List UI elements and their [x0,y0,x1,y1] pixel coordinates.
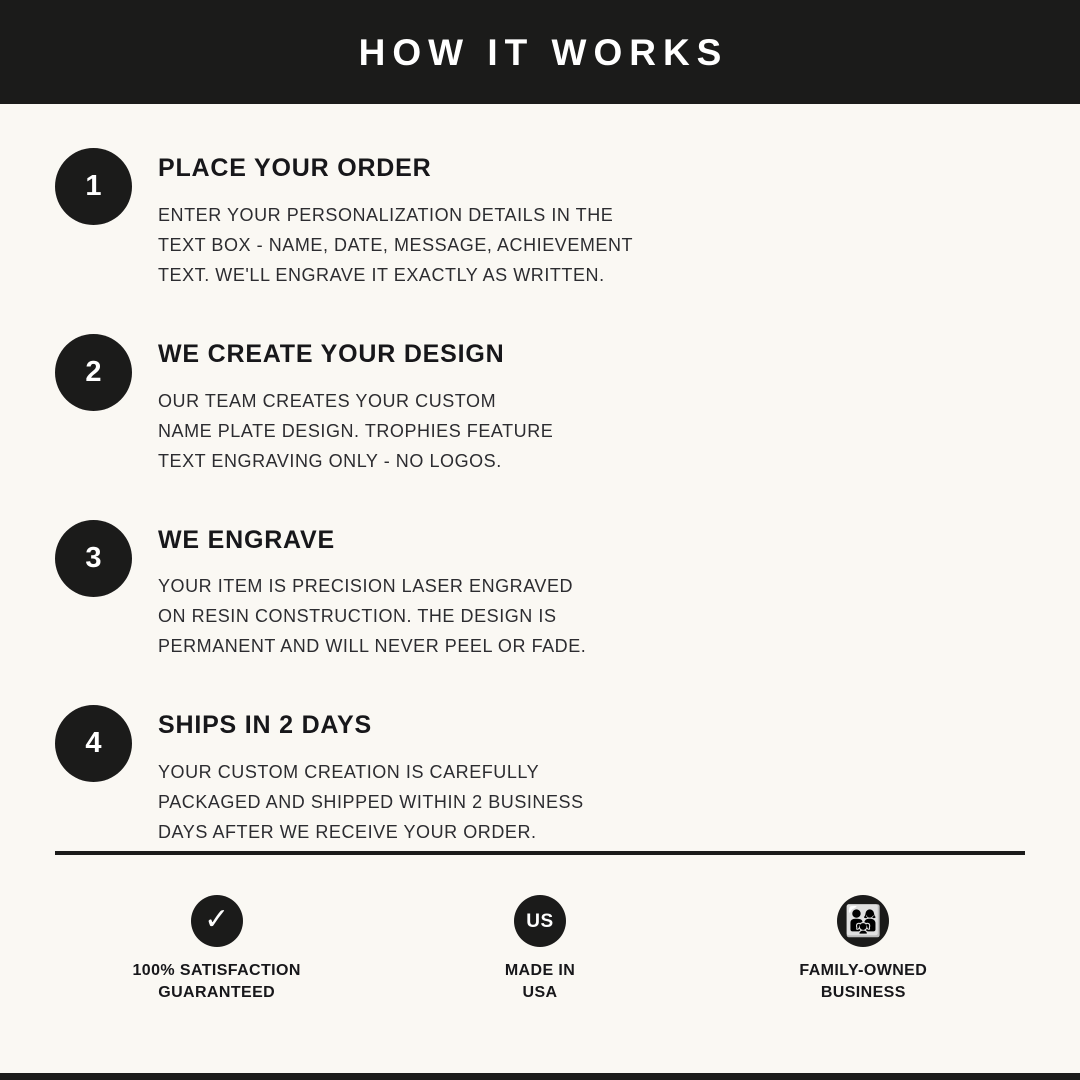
step-number-badge: 4 [55,705,132,782]
section-divider [55,851,1025,855]
step-number: 2 [85,358,101,387]
trust-badge-satisfaction: ✓ 100% SATISFACTION GUARANTEED [55,895,378,1004]
page-title: HOW IT WORKS [352,34,729,71]
step-number-badge: 3 [55,520,132,597]
family-glyph: 👨‍👩‍👧 [845,907,882,937]
trust-badge-label: MADE IN USA [505,960,575,1004]
step-title: PLACE YOUR ORDER [158,154,633,183]
step-content: WE CREATE YOUR DESIGN OUR TEAM CREATES Y… [132,332,553,476]
step-number-badge: 1 [55,148,132,225]
step-description: YOUR CUSTOM CREATION IS CAREFULLY PACKAG… [158,757,584,847]
steps-list: 1 PLACE YOUR ORDER ENTER YOUR PERSONALIZ… [0,104,1080,847]
step-title: SHIPS IN 2 DAYS [158,711,584,740]
step-item: 2 WE CREATE YOUR DESIGN OUR TEAM CREATES… [0,332,1080,476]
checkmark-glyph: ✓ [204,905,229,935]
step-title: WE CREATE YOUR DESIGN [158,340,553,369]
step-number: 3 [85,544,101,573]
trust-badge-label: FAMILY-OWNED BUSINESS [799,960,927,1004]
step-title: WE ENGRAVE [158,526,586,555]
us-glyph: US [526,912,553,931]
step-content: PLACE YOUR ORDER ENTER YOUR PERSONALIZAT… [132,146,633,290]
step-item: 4 SHIPS IN 2 DAYS YOUR CUSTOM CREATION I… [0,703,1080,847]
trust-badge-label: 100% SATISFACTION GUARANTEED [133,960,301,1004]
step-description: ENTER YOUR PERSONALIZATION DETAILS IN TH… [158,200,633,290]
family-icon: 👨‍👩‍👧 [837,895,889,947]
step-item: 1 PLACE YOUR ORDER ENTER YOUR PERSONALIZ… [0,146,1080,290]
trust-badge-made-in-usa: US MADE IN USA [378,895,701,1004]
header-bar: HOW IT WORKS [0,0,1080,104]
bottom-bar [0,1073,1080,1080]
step-number: 4 [85,729,101,758]
step-number-badge: 2 [55,334,132,411]
step-content: SHIPS IN 2 DAYS YOUR CUSTOM CREATION IS … [132,703,584,847]
trust-badges-row: ✓ 100% SATISFACTION GUARANTEED US MADE I… [55,895,1025,1004]
how-it-works-page: HOW IT WORKS 1 PLACE YOUR ORDER ENTER YO… [0,0,1080,1080]
step-content: WE ENGRAVE YOUR ITEM IS PRECISION LASER … [132,518,586,662]
us-text-icon: US [514,895,566,947]
step-item: 3 WE ENGRAVE YOUR ITEM IS PRECISION LASE… [0,518,1080,662]
step-description: YOUR ITEM IS PRECISION LASER ENGRAVED ON… [158,571,586,661]
step-number: 1 [85,172,101,201]
step-description: OUR TEAM CREATES YOUR CUSTOM NAME PLATE … [158,386,553,476]
trust-badge-family-owned: 👨‍👩‍👧 FAMILY-OWNED BUSINESS [702,895,1025,1004]
checkmark-icon: ✓ [191,895,243,947]
